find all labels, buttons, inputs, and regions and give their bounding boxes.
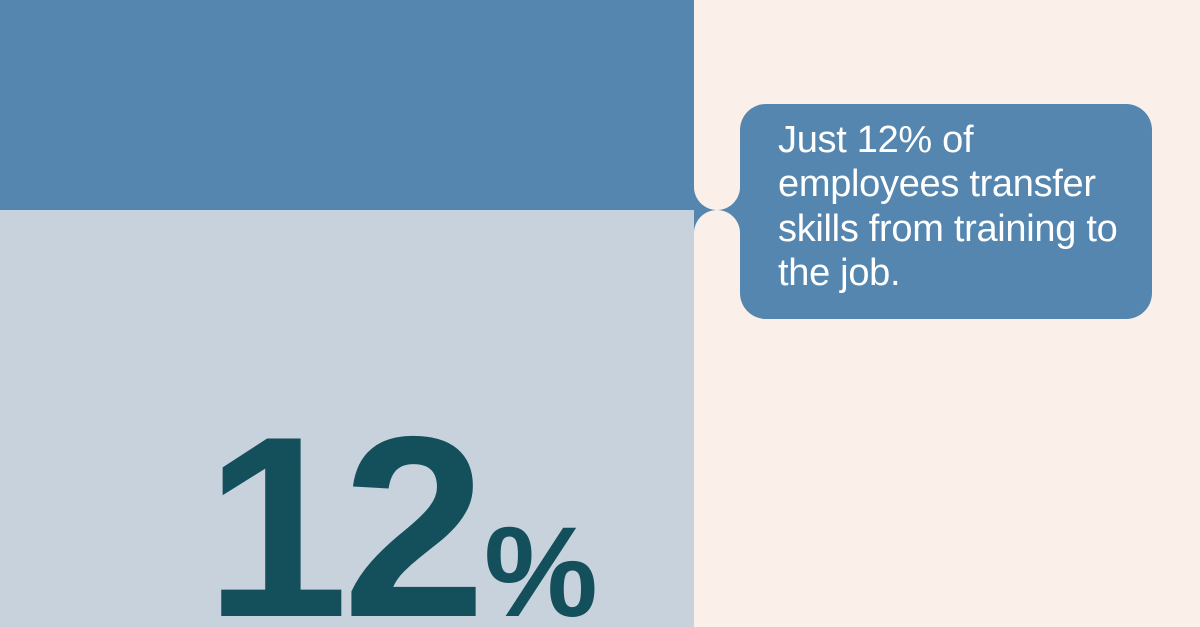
infographic-canvas: 12 % Just 12% of employees transfer skil… <box>0 0 1200 627</box>
notch-upper-decor-icon <box>694 0 740 210</box>
left-column: 12 % <box>0 0 694 627</box>
statistic-inner: 12 % <box>205 210 592 468</box>
callout-text: Just 12% of employees transfer skills fr… <box>778 118 1130 296</box>
notch-lower-decor-icon <box>694 210 740 627</box>
callout-bubble: Just 12% of employees transfer skills fr… <box>740 104 1152 319</box>
statistic-percent-symbol: % <box>484 509 596 627</box>
blue-band <box>0 0 694 210</box>
statistic-block: 12 % <box>0 210 694 627</box>
statistic-number: 12 <box>205 398 480 627</box>
